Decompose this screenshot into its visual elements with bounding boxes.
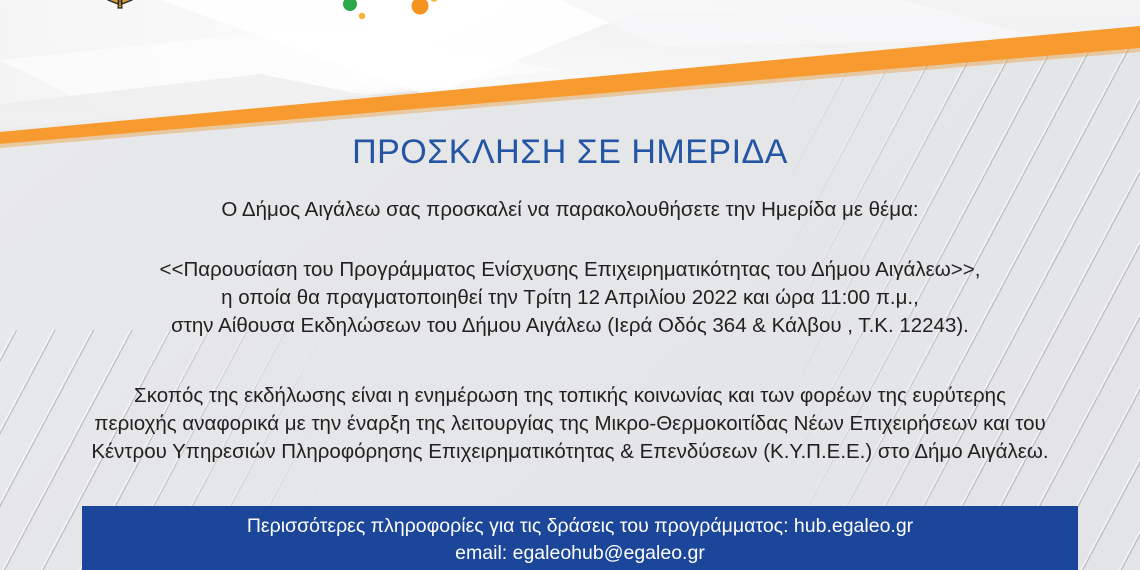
event-topic-line: <<Παρουσίαση του Προγράμματος Ενίσχυσης … xyxy=(0,256,1140,284)
event-details-paragraph: <<Παρουσίαση του Προγράμματος Ενίσχυσης … xyxy=(0,256,1140,340)
event-datetime-line: η οποία θα πραγματοποιηθεί την Τρίτη 12 … xyxy=(0,284,1140,312)
event-scope-paragraph: Σκοπός της εκδήλωσης είναι η ενημέρωση τ… xyxy=(0,382,1140,466)
poster-content: ΠΡΟΣΚΛΗΣΗ ΣΕ ΗΜΕΡΙΔΑ Ο Δήμος Αιγάλεω σας… xyxy=(0,0,1140,570)
scope-line-2: περιοχής αναφορικά με την έναρξη της λει… xyxy=(0,410,1140,438)
event-venue-line: στην Αίθουσα Εκδηλώσεων του Δήμου Αιγάλε… xyxy=(0,312,1140,340)
scope-line-1: Σκοπός της εκδήλωσης είναι η ενημέρωση τ… xyxy=(0,382,1140,410)
contact-footer-bar: Περισσότερες πληροφορίες για τις δράσεις… xyxy=(82,506,1078,570)
footer-website-line[interactable]: Περισσότερες πληροφορίες για τις δράσεις… xyxy=(82,513,1078,540)
intro-paragraph: Ο Δήμος Αιγάλεω σας προσκαλεί να παρακολ… xyxy=(0,196,1140,224)
intro-line: Ο Δήμος Αιγάλεω σας προσκαλεί να παρακολ… xyxy=(0,196,1140,224)
invitation-poster: ΠΡΟΣΚΛΗΣΗ ΣΕ ΗΜΕΡΙΔΑ Ο Δήμος Αιγάλεω σας… xyxy=(0,0,1140,570)
scope-line-3: Κέντρου Υπηρεσιών Πληροφόρησης Επιχειρημ… xyxy=(0,438,1140,466)
footer-email-line[interactable]: email: egaleohub@egaleo.gr xyxy=(82,540,1078,567)
page-title: ΠΡΟΣΚΛΗΣΗ ΣΕ ΗΜΕΡΙΔΑ xyxy=(0,134,1140,171)
